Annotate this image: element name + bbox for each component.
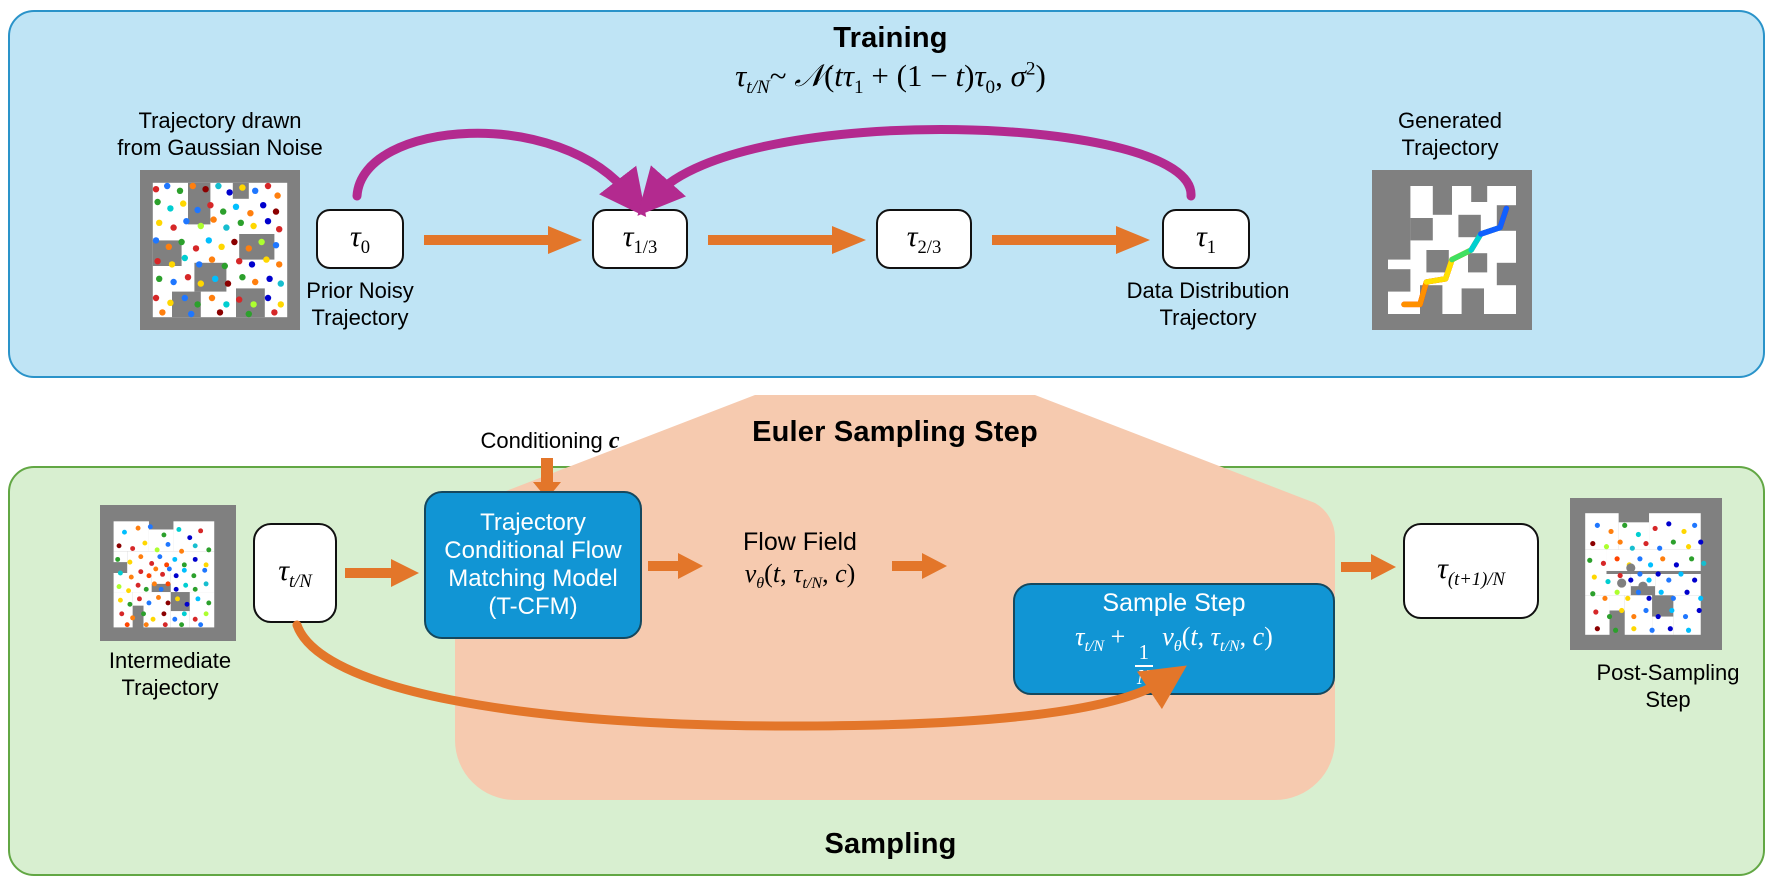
model-line: Matching Model bbox=[448, 565, 617, 593]
flow-field-formula: vθ(t, τt/N, c) bbox=[700, 559, 900, 593]
tau-symbol: τ bbox=[623, 220, 634, 253]
conditioning-text: Conditioning bbox=[480, 428, 602, 453]
caption-line: Trajectory bbox=[1100, 305, 1316, 332]
node-tau-2-3[interactable]: τ2/3 bbox=[876, 209, 972, 269]
arrow-tau-to-model bbox=[345, 558, 421, 588]
tcfm-model-box[interactable]: Trajectory Conditional Flow Matching Mod… bbox=[424, 491, 642, 639]
sample-step-title: Sample Step bbox=[1102, 589, 1245, 618]
post-sampling-maze-image bbox=[1570, 498, 1722, 650]
node-tau-t-plus-1-over-N[interactable]: τ(t+1)/N bbox=[1403, 523, 1539, 619]
node-tau-0-caption: Prior Noisy Trajectory bbox=[280, 278, 440, 332]
sample-step-box[interactable]: Sample Step τt/N + 1N vθ(t, τt/N, c) bbox=[1013, 583, 1335, 695]
tau-subscript: 0 bbox=[361, 237, 370, 258]
caption-line: Intermediate bbox=[80, 648, 260, 675]
tau-symbol: τ bbox=[278, 554, 289, 587]
model-line: Trajectory bbox=[480, 509, 586, 537]
node-tau-1-caption: Data Distribution Trajectory bbox=[1100, 278, 1316, 332]
sampling-panel-title: Sampling bbox=[0, 828, 1781, 861]
tau-symbol: τ bbox=[1437, 552, 1448, 585]
tau-subscript: 2/3 bbox=[917, 237, 941, 258]
sample-step-formula: τt/N + 1N vθ(t, τt/N, c) bbox=[1075, 622, 1273, 689]
intermediate-trajectory-maze-image bbox=[100, 505, 236, 641]
arrow-tau0-to-tau13 bbox=[424, 224, 584, 256]
tau-subscript: (t+1)/N bbox=[1448, 569, 1505, 590]
node-tau-1-3[interactable]: τ1/3 bbox=[592, 209, 688, 269]
conditioning-label: Conditioning c bbox=[420, 428, 680, 455]
arrow-tau13-to-tau23 bbox=[708, 224, 868, 256]
training-left-caption: Trajectory drawn from Gaussian Noise bbox=[60, 108, 380, 162]
arrow-samplestep-to-output bbox=[1341, 553, 1397, 581]
node-tau-1[interactable]: τ1 bbox=[1162, 209, 1250, 269]
training-panel-title: Training bbox=[0, 22, 1781, 55]
arrow-model-to-flowfield bbox=[648, 552, 704, 580]
caption-line: Trajectory bbox=[280, 305, 440, 332]
generated-trajectory-maze-image bbox=[1372, 170, 1532, 330]
caption-line: Data Distribution bbox=[1100, 278, 1316, 305]
caption-line: from Gaussian Noise bbox=[60, 135, 380, 162]
model-line: (T-CFM) bbox=[488, 593, 577, 621]
node-tau-t-over-N[interactable]: τt/N bbox=[253, 523, 337, 623]
caption-line: Generated bbox=[1300, 108, 1600, 135]
arrow-flowfield-to-samplestep bbox=[892, 552, 948, 580]
tau-subscript: 1/3 bbox=[633, 237, 657, 258]
tau-subscript: 1 bbox=[1207, 237, 1216, 258]
training-formula: τt/N~ 𝒩(tτ1 + (1 − t)τ0, σ2) bbox=[0, 58, 1781, 99]
caption-line: Trajectory drawn bbox=[60, 108, 380, 135]
conditioning-symbol: c bbox=[609, 428, 620, 454]
flow-field-title: Flow Field bbox=[700, 528, 900, 557]
post-sampling-caption: Post-Sampling Step bbox=[1568, 660, 1768, 714]
tau-symbol: τ bbox=[350, 220, 361, 253]
tau-symbol: τ bbox=[1196, 220, 1207, 253]
caption-line: Post-Sampling bbox=[1568, 660, 1768, 687]
tau-subscript: t/N bbox=[289, 571, 312, 592]
arrow-tau23-to-tau1 bbox=[992, 224, 1152, 256]
noise-trajectory-maze-image bbox=[140, 170, 300, 330]
model-line: Conditional Flow bbox=[444, 537, 621, 565]
caption-line: Trajectory bbox=[1300, 135, 1600, 162]
caption-line: Prior Noisy bbox=[280, 278, 440, 305]
tau-symbol: τ bbox=[907, 220, 918, 253]
caption-line: Trajectory bbox=[80, 675, 260, 702]
intermediate-trajectory-caption: Intermediate Trajectory bbox=[80, 648, 260, 702]
node-tau-0[interactable]: τ0 bbox=[316, 209, 404, 269]
flow-field-label: Flow Field vθ(t, τt/N, c) bbox=[700, 528, 900, 593]
caption-line: Step bbox=[1568, 687, 1768, 714]
training-right-caption: Generated Trajectory bbox=[1300, 108, 1600, 162]
